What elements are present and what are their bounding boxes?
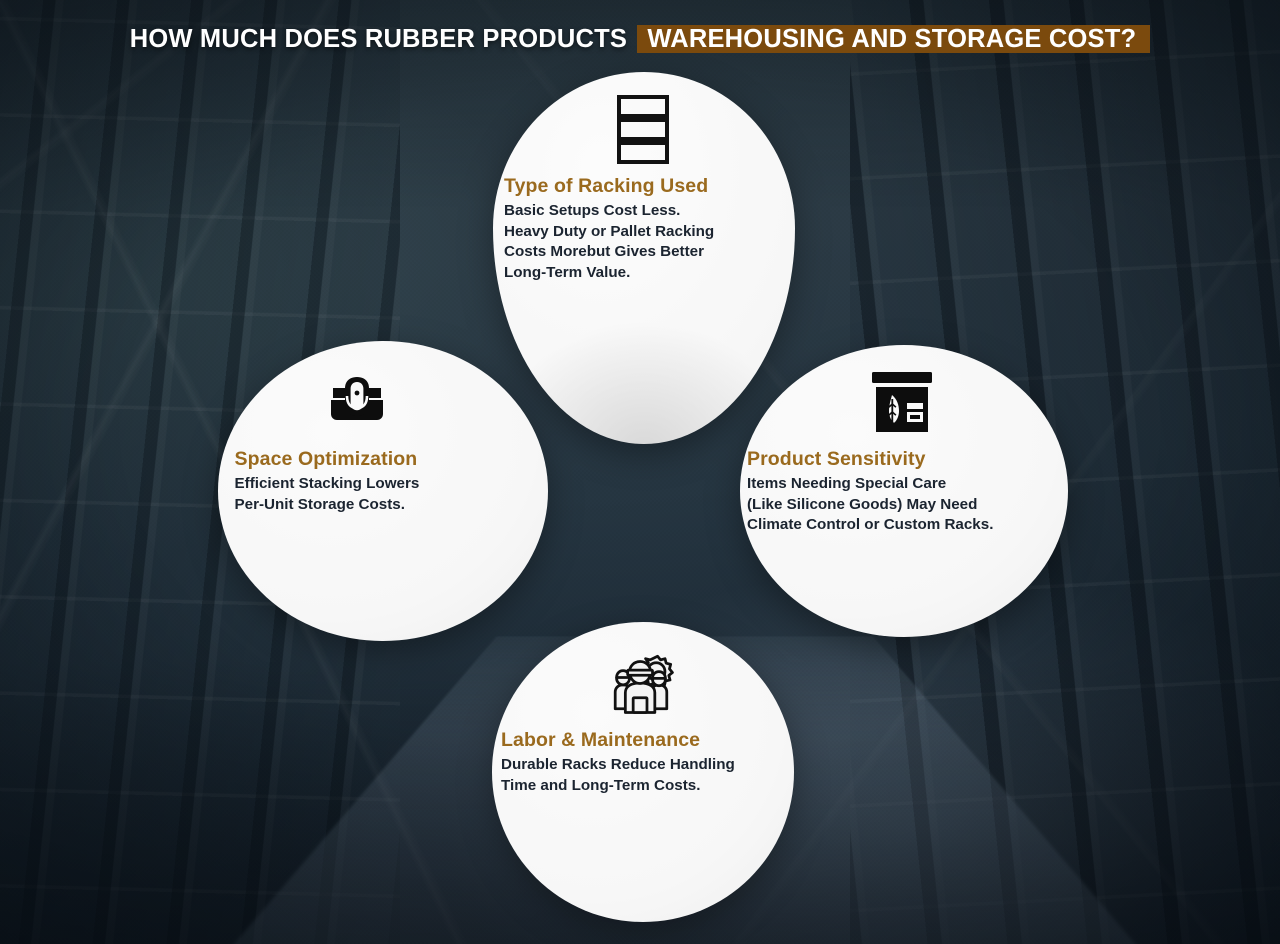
card-body: Product Sensitivity Items Needing Specia… [733, 447, 1075, 536]
card-description: Basic Setups Cost Less. Heavy Duty or Pa… [504, 201, 806, 283]
card-product-sensitivity[interactable]: Product Sensitivity Items Needing Specia… [740, 345, 1068, 637]
page-title: HOW MUCH DOES RUBBER PRODUCTS WAREHOUSIN… [0, 14, 1280, 64]
card-heading: Type of Racking Used [504, 174, 806, 198]
card-description: Durable Racks Reduce Handling Time and L… [501, 755, 803, 796]
card-description: Items Needing Special Care (Like Silicon… [747, 474, 1075, 536]
climate-controlled-container-icon [867, 367, 937, 437]
card-body: Labor & Maintenance Durable Racks Reduce… [483, 728, 803, 796]
infographic-canvas: HOW MUCH DOES RUBBER PRODUCTS WAREHOUSIN… [0, 0, 1280, 944]
card-heading: Product Sensitivity [747, 447, 1075, 471]
card-heading: Labor & Maintenance [501, 728, 803, 752]
card-body: Type of Racking Used Basic Setups Cost L… [482, 174, 806, 283]
workers-gear-icon [606, 648, 676, 718]
title-plain-text: HOW MUCH DOES RUBBER PRODUCTS [130, 25, 638, 53]
title-highlighted-text: WAREHOUSING AND STORAGE COST? [637, 25, 1150, 53]
card-body: Space Optimization Efficient Stacking Lo… [202, 447, 565, 515]
card-labor-and-maintenance[interactable]: Labor & Maintenance Durable Racks Reduce… [492, 622, 794, 922]
storage-box-package-icon [322, 367, 392, 437]
pallet-racking-icon [608, 94, 678, 164]
card-heading: Space Optimization [235, 447, 565, 471]
card-description: Efficient Stacking Lowers Per-Unit Stora… [235, 474, 565, 515]
card-space-optimization[interactable]: Space Optimization Efficient Stacking Lo… [218, 341, 548, 641]
